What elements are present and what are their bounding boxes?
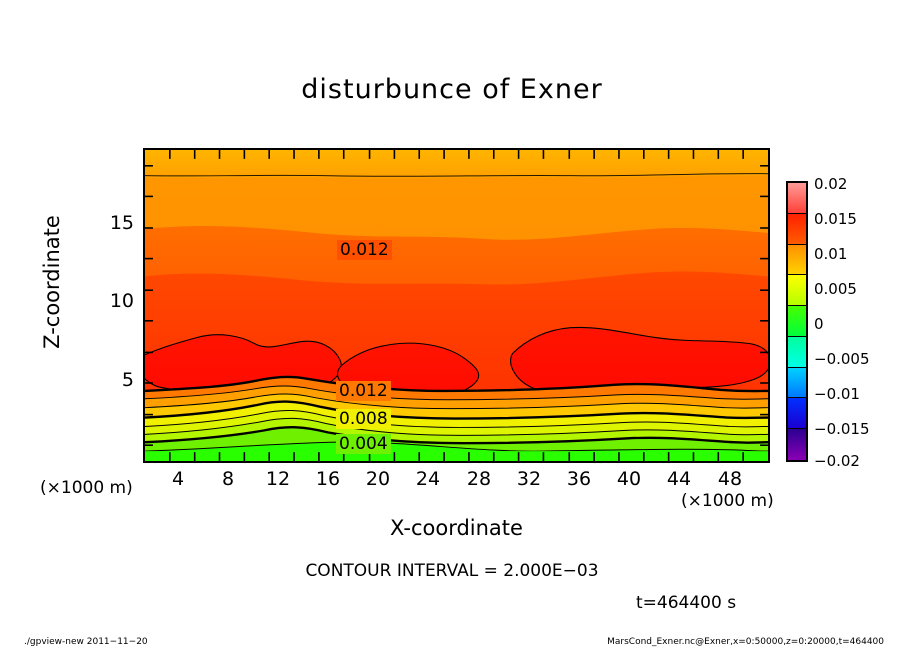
xtick-label-12: 12 — [258, 468, 298, 490]
colorbar-label-0: 0.02 — [814, 175, 847, 193]
xtick-label-16: 16 — [308, 468, 348, 490]
colorbar-band-2 — [788, 245, 806, 276]
colorbar[interactable] — [786, 181, 808, 462]
band-top-orange — [145, 150, 768, 178]
colorbar-band-6 — [788, 368, 806, 399]
xtick-label-8: 8 — [208, 468, 248, 490]
ytick-label-5: 5 — [88, 369, 134, 391]
time-annotation: t=464400 s — [636, 593, 736, 613]
contour-label-0008: 0.008 — [336, 409, 391, 429]
colorbar-label-5: −0.005 — [814, 350, 870, 368]
y-axis-label: Z-coordinate — [40, 172, 64, 392]
footer-command: ./gpview-new 2011−11−20 — [24, 637, 148, 647]
xtick-label-44: 44 — [659, 468, 699, 490]
x-unit-right-label: (×1000 m) — [681, 491, 774, 511]
colorbar-label-1: 0.015 — [814, 210, 857, 228]
xtick-label-4: 4 — [158, 468, 198, 490]
contour-label-0004: 0.004 — [336, 434, 391, 454]
colorbar-band-4 — [788, 306, 806, 337]
page-title: disturbunce of Exner — [0, 74, 904, 105]
colorbar-band-8 — [788, 429, 806, 460]
xtick-label-28: 28 — [459, 468, 499, 490]
contour-field — [145, 150, 768, 461]
footer-source: MarsCond_Exner.nc@Exner,x=0:50000,z=0:20… — [607, 637, 884, 647]
contour-label-0012-upper: 0.012 — [337, 240, 392, 260]
colorbar-label-8: −0.02 — [814, 452, 860, 470]
ytick-label-10: 10 — [88, 290, 134, 312]
x-unit-left-label: (×1000 m) — [40, 478, 133, 498]
colorbar-label-7: −0.015 — [814, 420, 870, 438]
colorbar-label-3: 0.005 — [814, 280, 857, 298]
contour-interval-annotation: CONTOUR INTERVAL = 2.000E−03 — [0, 561, 904, 581]
colorbar-band-1 — [788, 214, 806, 245]
xtick-label-24: 24 — [408, 468, 448, 490]
contour-label-0012-lower: 0.012 — [336, 381, 391, 401]
ytick-label-15: 15 — [88, 212, 134, 234]
colorbar-label-2: 0.01 — [814, 245, 847, 263]
colorbar-label-4: 0 — [814, 315, 824, 333]
xtick-label-36: 36 — [559, 468, 599, 490]
xtick-label-20: 20 — [358, 468, 398, 490]
colorbar-band-3 — [788, 275, 806, 306]
colorbar-band-0 — [788, 183, 806, 214]
contour-plot-area[interactable] — [143, 148, 770, 463]
xtick-label-48: 48 — [710, 468, 750, 490]
x-axis-label: X-coordinate — [143, 516, 770, 540]
colorbar-label-6: −0.01 — [814, 385, 860, 403]
colorbar-band-5 — [788, 337, 806, 368]
colorbar-band-7 — [788, 398, 806, 429]
xtick-label-40: 40 — [609, 468, 649, 490]
xtick-label-32: 32 — [509, 468, 549, 490]
